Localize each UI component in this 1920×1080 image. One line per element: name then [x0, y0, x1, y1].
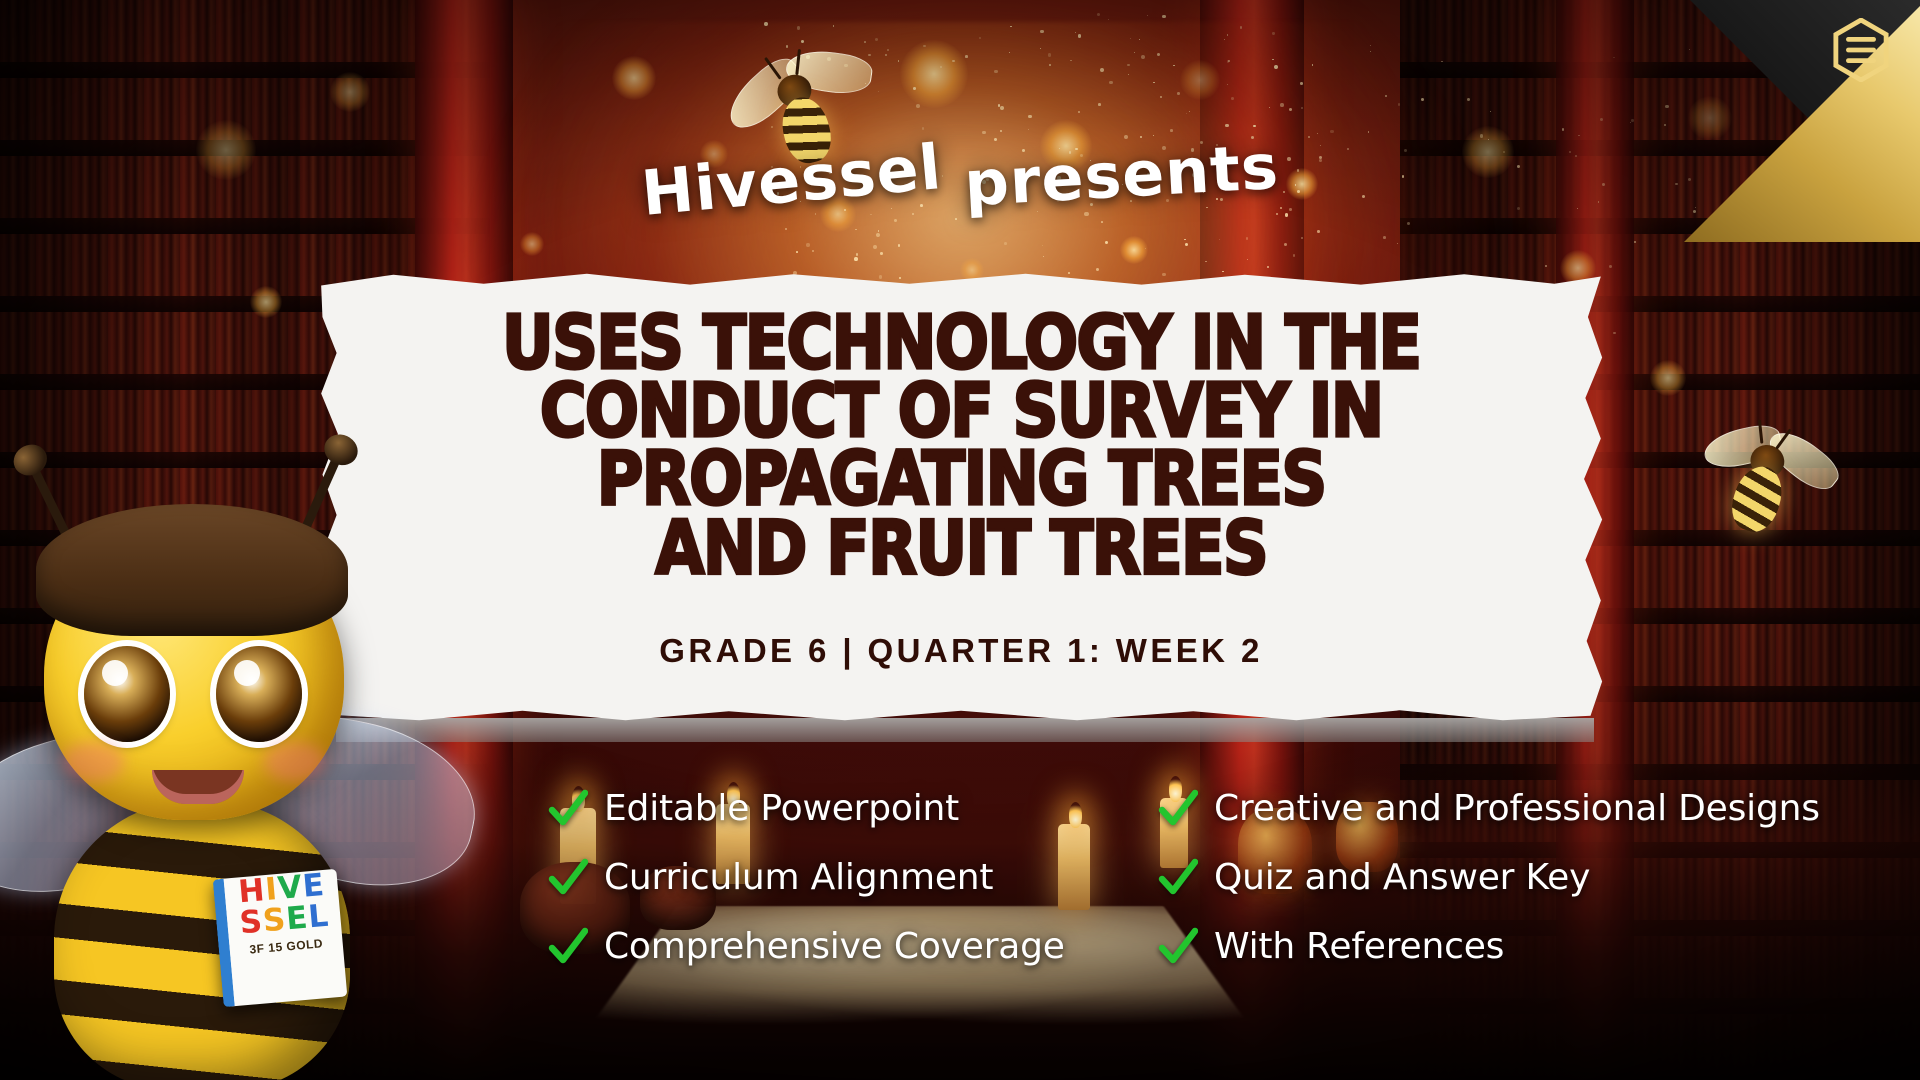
book-letter: S	[238, 907, 263, 940]
green-checkmark-icon	[548, 789, 588, 829]
feature-item: Creative and Professional Designs	[1158, 788, 1888, 829]
mascot-hair	[36, 504, 348, 636]
book-letter: E	[285, 903, 309, 936]
feature-item: Comprehensive Coverage	[548, 926, 1158, 967]
slide-cover: Hivessel presents USES TECHNOLOGY IN THE…	[0, 0, 1920, 1080]
book-title-line-2: SSEL	[226, 900, 341, 941]
feature-item: Quiz and Answer Key	[1158, 857, 1888, 898]
green-checkmark-icon	[1158, 858, 1198, 898]
feature-label: Curriculum Alignment	[604, 857, 993, 898]
book-letter: S	[262, 905, 287, 938]
mascot-blush-left	[62, 742, 124, 782]
feature-item: With References	[1158, 926, 1888, 967]
feature-list: Editable Powerpoint Creative and Profess…	[548, 788, 1888, 967]
feature-item: Curriculum Alignment	[548, 857, 1158, 898]
mascot-blush-right	[264, 742, 326, 782]
feature-label: Quiz and Answer Key	[1214, 857, 1590, 898]
feature-label: Editable Powerpoint	[604, 788, 959, 829]
feature-label: Creative and Professional Designs	[1214, 788, 1820, 829]
green-checkmark-icon	[548, 927, 588, 967]
hivessel-hex-logo-icon[interactable]	[1832, 18, 1890, 82]
mascot-eye-right	[216, 646, 302, 742]
feature-label: Comprehensive Coverage	[604, 926, 1065, 967]
feature-item: Editable Powerpoint	[548, 788, 1158, 829]
page-title: USES TECHNOLOGY IN THE CONDUCT OF SURVEY…	[502, 309, 1420, 583]
hivessel-bee-mascot: HIVE SSEL 3F 15 GOLD	[0, 470, 526, 1080]
title-line-3: PROPAGATING TREES	[502, 446, 1420, 514]
green-checkmark-icon	[548, 858, 588, 898]
feature-label: With References	[1214, 926, 1504, 967]
green-checkmark-icon	[1158, 789, 1198, 829]
grade-quarter-week-subtitle: GRADE 6 | QUARTER 1: WEEK 2	[659, 632, 1262, 670]
title-line-4: AND FRUIT TREES	[502, 514, 1420, 582]
mascot-eye-left	[84, 646, 170, 742]
green-checkmark-icon	[1158, 927, 1198, 967]
book-letter: L	[307, 901, 329, 934]
mascot-hivessel-book: HIVE SSEL 3F 15 GOLD	[213, 869, 348, 1007]
